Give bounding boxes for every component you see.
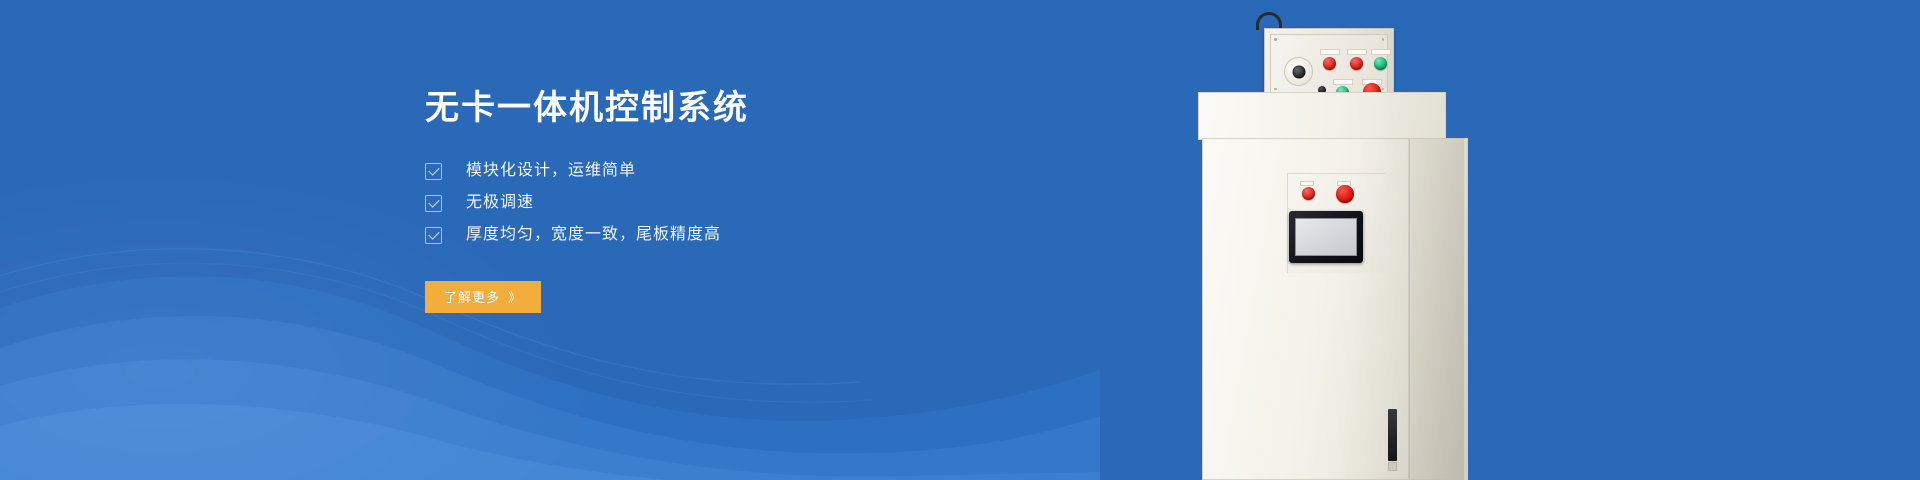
hmi-screen-surface [1295, 218, 1357, 256]
control-box-face [1270, 34, 1388, 94]
rotary-selector-knob [1284, 57, 1313, 86]
cabinet-button-red-2 [1336, 185, 1354, 203]
indicator-button-red-2 [1350, 57, 1363, 70]
page-title: 无卡一体机控制系统 [425, 88, 1045, 129]
indicator-button-green-1 [1374, 57, 1387, 70]
hero-banner: 无卡一体机控制系统 模块化设计，运维简单 无极调速 厚度均匀，宽度一致，尾板精度… [0, 0, 1920, 480]
product-photo-control-cabinet [1198, 0, 1568, 480]
door-handle-slot [1388, 409, 1397, 461]
feature-list: 模块化设计，运维简单 无极调速 厚度均匀，宽度一致，尾板精度高 [425, 163, 1045, 244]
feature-label: 厚度均匀，宽度一致，尾板精度高 [466, 227, 721, 243]
feature-item-1: 模块化设计，运维简单 [425, 163, 1045, 180]
checkbox-check-icon [425, 195, 442, 212]
learn-more-label: 了解更多 [444, 287, 500, 306]
cabinet-body [1202, 138, 1468, 480]
screw-icon [1274, 88, 1277, 91]
top-control-box [1264, 28, 1394, 100]
cabinet-side-panel [1409, 139, 1467, 479]
cabinet-door-seam [1408, 139, 1409, 479]
feature-label: 无极调速 [466, 195, 534, 211]
cabinet-button-red-1 [1302, 187, 1315, 200]
feature-item-2: 无极调速 [425, 195, 1045, 212]
screw-icon [1382, 88, 1385, 91]
button-label-plate [1320, 49, 1340, 55]
rotary-knob-cap [1292, 65, 1305, 78]
feature-label: 模块化设计，运维简单 [466, 163, 636, 179]
screw-icon [1382, 38, 1385, 41]
button-label-plate [1300, 181, 1314, 186]
double-chevron-right-icon: 》 [508, 287, 522, 306]
learn-more-button[interactable]: 了解更多 》 [425, 281, 541, 313]
cabinet-top-shoulder [1198, 92, 1446, 140]
button-label-plate [1371, 49, 1391, 55]
door-lock-plate [1388, 462, 1397, 471]
button-label-plate [1333, 79, 1353, 85]
checkbox-check-icon [425, 163, 442, 180]
feature-item-3: 厚度均匀，宽度一致，尾板精度高 [425, 227, 1045, 244]
checkbox-check-icon [425, 227, 442, 244]
indicator-button-red-1 [1323, 57, 1336, 70]
hmi-touchscreen [1289, 211, 1363, 263]
hero-text-column: 无卡一体机控制系统 模块化设计，运维简单 无极调速 厚度均匀，宽度一致，尾板精度… [425, 88, 1045, 313]
button-label-plate [1347, 49, 1367, 55]
screw-icon [1274, 38, 1277, 41]
